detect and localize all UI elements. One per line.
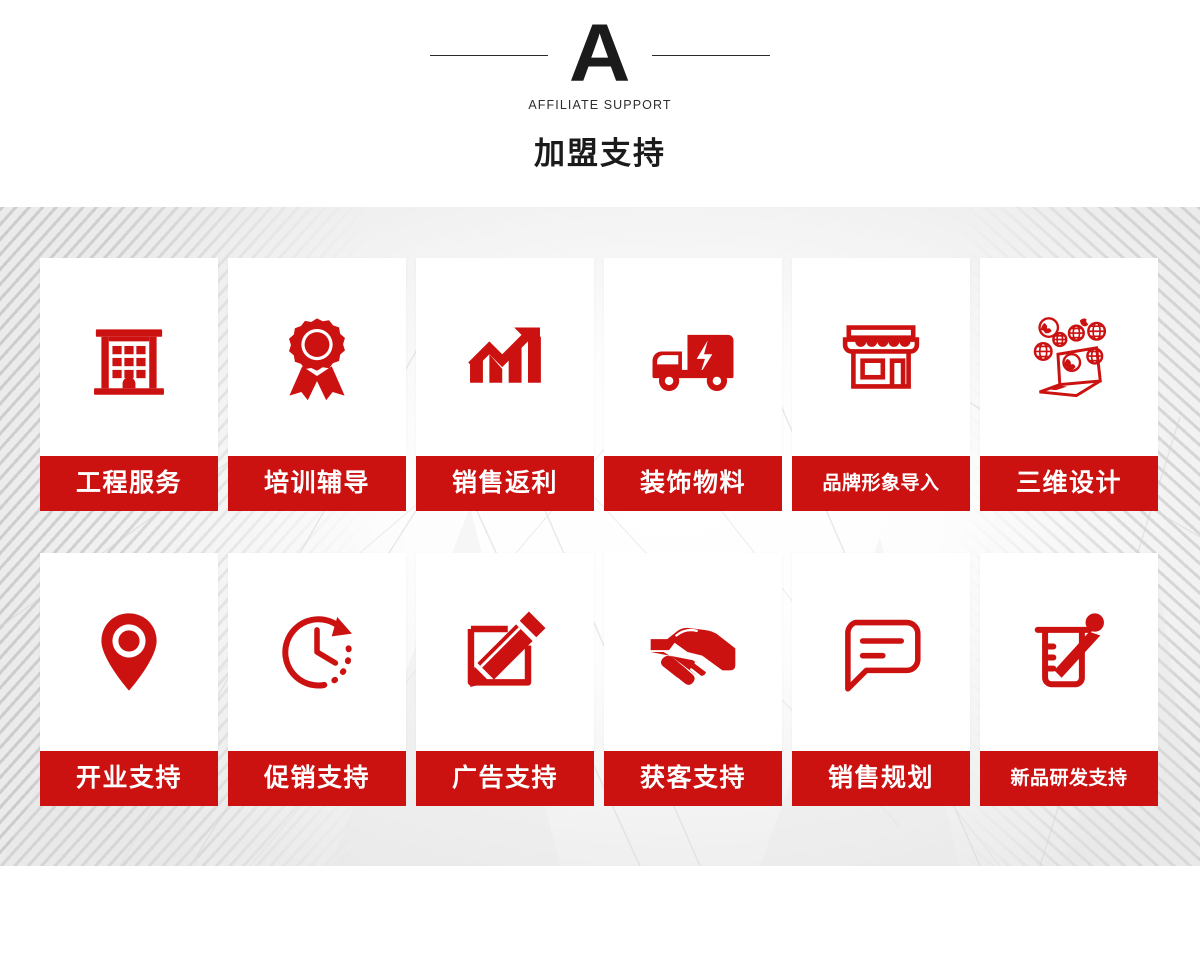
building-icon (83, 311, 175, 403)
edit-pencil-icon (459, 606, 551, 698)
support-card[interactable]: 获客支持 (604, 553, 782, 806)
support-card[interactable]: 开业支持 (40, 553, 218, 806)
card-label: 销售返利 (416, 456, 594, 511)
card-icon-box (980, 553, 1158, 751)
card-icon-box (40, 553, 218, 751)
card-label: 品牌形象导入 (792, 456, 970, 511)
clock-arrow-icon (271, 606, 363, 698)
page-header: A AFFILIATE SUPPORT 加盟支持 (0, 0, 1200, 207)
support-card[interactable]: 装饰物料 (604, 258, 782, 511)
support-card[interactable]: 工程服务 (40, 258, 218, 511)
header-subtitle: AFFILIATE SUPPORT (0, 98, 1200, 112)
support-card[interactable]: 新品研发支持 (980, 553, 1158, 806)
card-icon-box (228, 258, 406, 456)
speech-bubble-icon (835, 606, 927, 698)
card-icon-box (792, 258, 970, 456)
handshake-icon (647, 606, 739, 698)
card-icon-box (604, 258, 782, 456)
card-label: 装饰物料 (604, 456, 782, 511)
card-label: 新品研发支持 (980, 751, 1158, 806)
location-pin-icon (83, 606, 175, 698)
support-card-grid: 工程服务 培训辅导 (40, 258, 1158, 806)
delivery-truck-icon (647, 311, 739, 403)
laptop-globes-icon (1023, 311, 1115, 403)
card-icon-box (604, 553, 782, 751)
support-card[interactable]: 培训辅导 (228, 258, 406, 511)
support-card[interactable]: 品牌形象导入 (792, 258, 970, 511)
banner-background: 工程服务 培训辅导 (0, 207, 1200, 866)
logo-row: A (0, 18, 1200, 90)
support-card[interactable]: 销售规划 (792, 553, 970, 806)
support-card[interactable]: 销售返利 (416, 258, 594, 511)
card-icon-box (40, 258, 218, 456)
logo-letter: A (569, 18, 631, 90)
logo-rule-left-icon (430, 55, 548, 56)
card-icon-box (228, 553, 406, 751)
card-label: 三维设计 (980, 456, 1158, 511)
support-card[interactable]: 三维设计 (980, 258, 1158, 511)
page-title: 加盟支持 (0, 128, 1200, 173)
card-icon-box (792, 553, 970, 751)
card-label: 工程服务 (40, 456, 218, 511)
beaker-pipette-icon (1023, 606, 1115, 698)
support-card[interactable]: 促销支持 (228, 553, 406, 806)
support-card[interactable]: 广告支持 (416, 553, 594, 806)
card-label: 培训辅导 (228, 456, 406, 511)
award-ribbon-icon (271, 311, 363, 403)
card-label: 开业支持 (40, 751, 218, 806)
card-label: 广告支持 (416, 751, 594, 806)
card-label: 促销支持 (228, 751, 406, 806)
growth-chart-icon (459, 311, 551, 403)
card-icon-box (980, 258, 1158, 456)
card-label: 获客支持 (604, 751, 782, 806)
storefront-icon (835, 311, 927, 403)
card-icon-box (416, 258, 594, 456)
card-label: 销售规划 (792, 751, 970, 806)
logo-rule-right-icon (652, 55, 770, 56)
affiliate-support-page: A AFFILIATE SUPPORT 加盟支持 (0, 0, 1200, 970)
card-icon-box (416, 553, 594, 751)
